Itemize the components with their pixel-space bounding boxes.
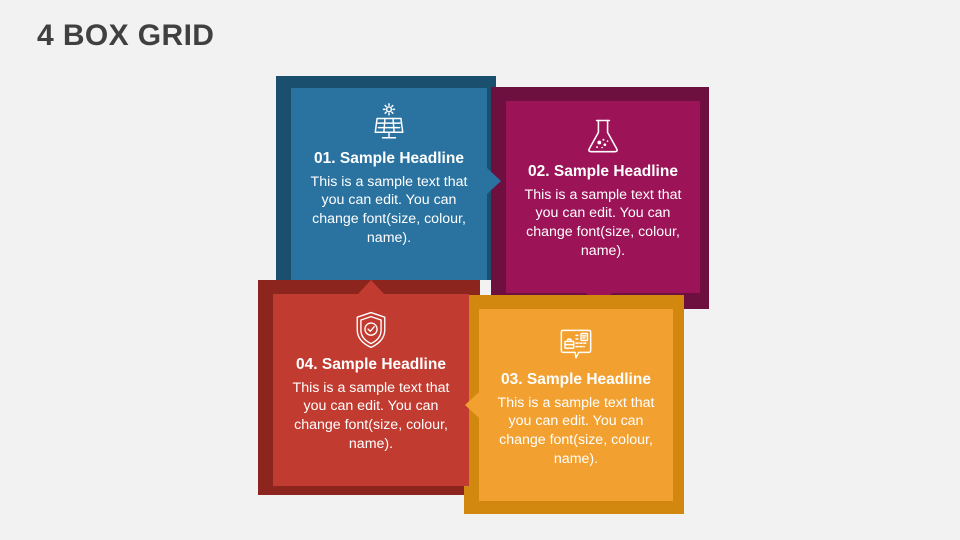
box-04-card[interactable]: 04. Sample Headline This is a sample tex…	[273, 294, 469, 486]
box-04-body: This is a sample text that you can edit.…	[273, 379, 469, 455]
box-01-body: This is a sample text that you can edit.…	[291, 173, 487, 249]
box-03-headline: 03. Sample Headline	[501, 371, 651, 390]
shield-check-icon	[349, 308, 393, 352]
box-02-body: This is a sample text that you can edit.…	[506, 186, 700, 262]
box-03-card[interactable]: 03. Sample Headline This is a sample tex…	[479, 309, 673, 501]
box-03-body: This is a sample text that you can edit.…	[479, 394, 673, 470]
box-01-arrow-right-icon	[487, 168, 501, 194]
chat-briefcase-icon	[554, 323, 598, 367]
box-01-card[interactable]: 01. Sample Headline This is a sample tex…	[291, 88, 487, 280]
four-box-grid-diagram: 01. Sample Headline This is a sample tex…	[0, 0, 960, 540]
box-02-headline: 02. Sample Headline	[528, 163, 678, 182]
box-01-headline: 01. Sample Headline	[314, 150, 464, 169]
box-04-arrow-up-icon	[358, 280, 384, 294]
flask-icon	[581, 115, 625, 159]
box-02-card[interactable]: 02. Sample Headline This is a sample tex…	[506, 101, 700, 293]
box-03-arrow-left-icon	[465, 392, 479, 418]
solar-panel-icon	[367, 102, 411, 146]
box-04-headline: 04. Sample Headline	[296, 356, 446, 375]
